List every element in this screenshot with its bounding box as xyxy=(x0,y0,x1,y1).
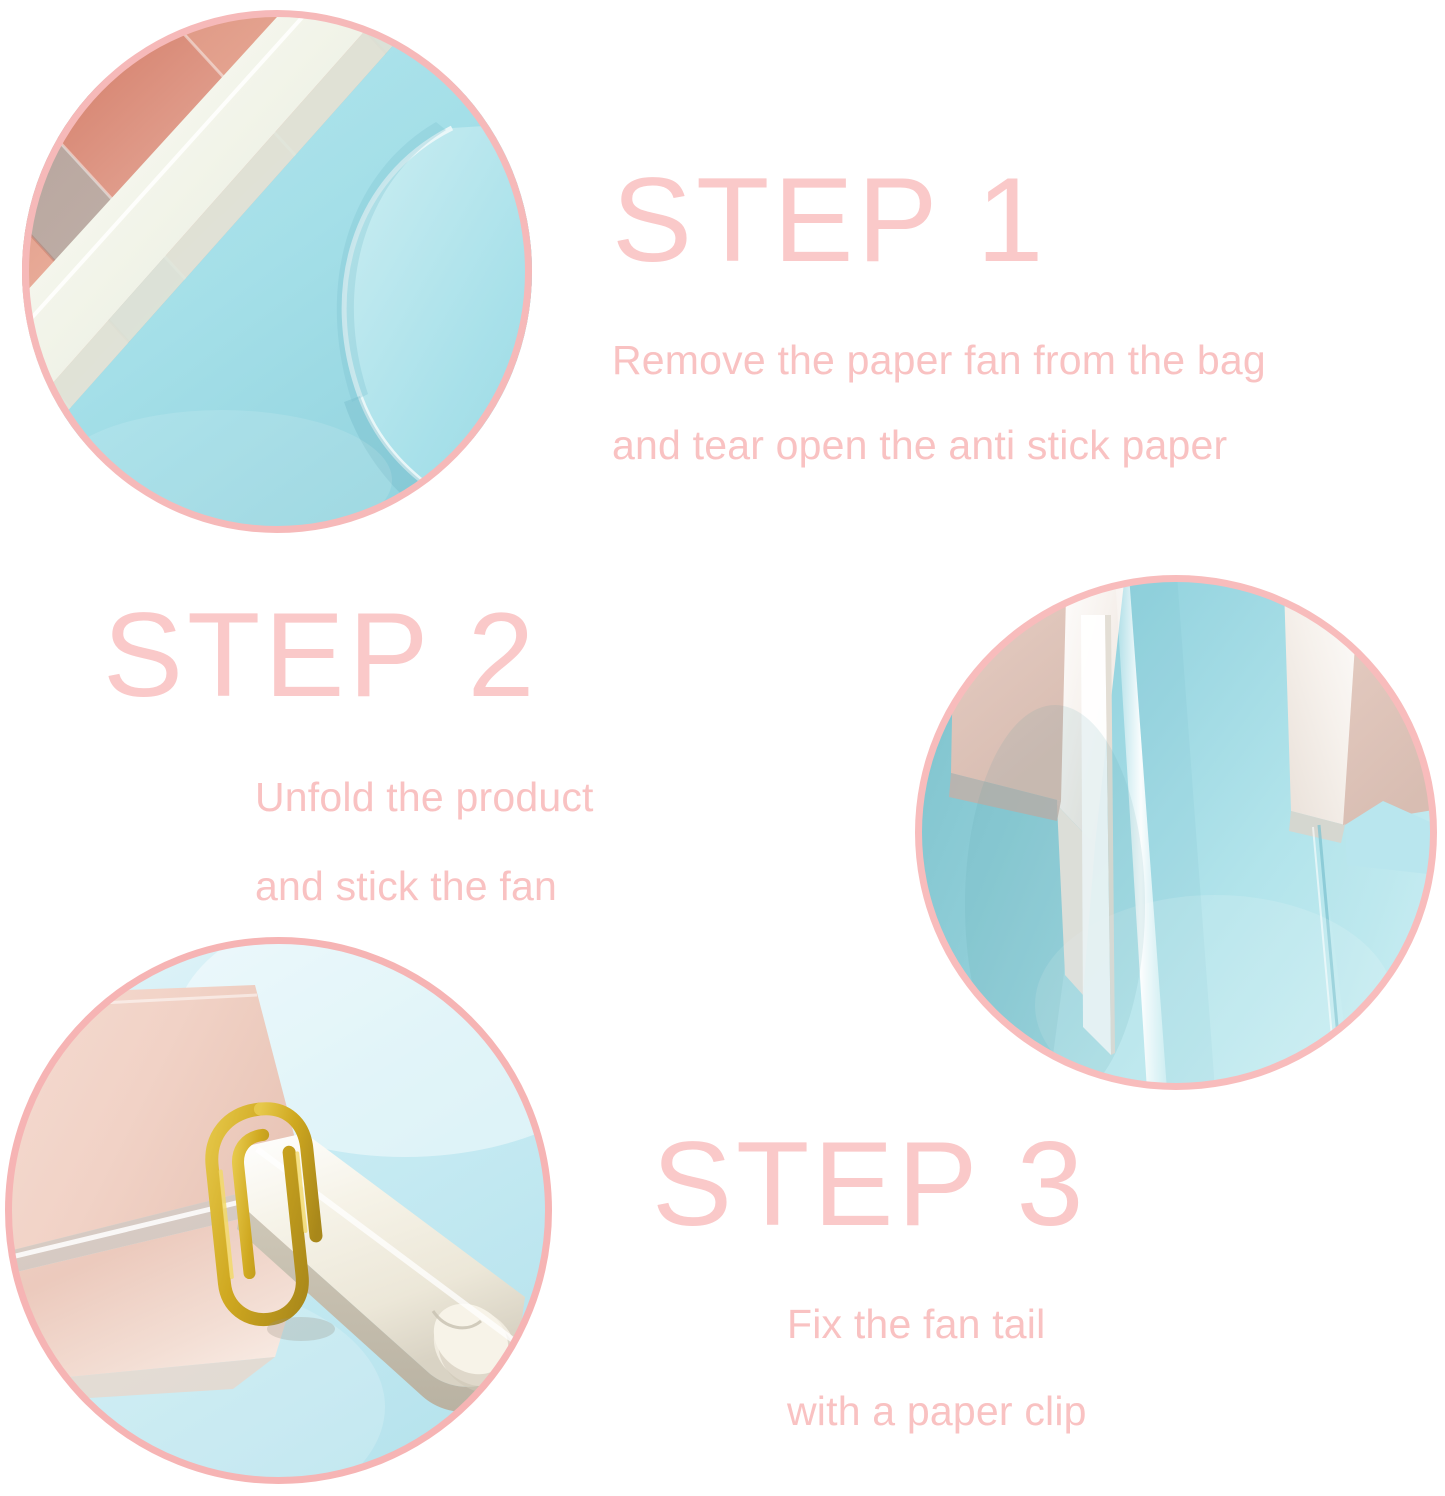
step-2-line-2: and stick the fan xyxy=(255,866,594,907)
instruction-poster: STEP 1 Remove the paper fan from the bag… xyxy=(0,0,1445,1496)
photo-unfolded-blue-fan xyxy=(915,575,1437,1090)
step-2-text-block: STEP 2 Unfold the product and stick the … xyxy=(103,595,594,907)
step-1-text-block: STEP 1 Remove the paper fan from the bag… xyxy=(612,160,1266,510)
photo-fan-tail-with-paperclip xyxy=(5,937,552,1484)
step-3-heading: STEP 3 xyxy=(652,1124,1087,1244)
step-3-text-block: STEP 3 Fix the fan tail with a paper cli… xyxy=(652,1124,1087,1432)
photo-pleated-pink-fan-in-bag xyxy=(22,10,532,533)
paperclip-illustration xyxy=(5,937,552,1484)
step-1-heading: STEP 1 xyxy=(612,160,1266,280)
step-2-heading: STEP 2 xyxy=(103,595,594,715)
unfolded-fan-illustration xyxy=(915,575,1437,1090)
pleated-fan-illustration xyxy=(22,10,532,533)
step-1-line-1: Remove the paper fan from the bag xyxy=(612,340,1266,381)
step-2-line-1: Unfold the product xyxy=(255,777,594,818)
step-1-line-2: and tear open the anti stick paper xyxy=(612,425,1266,466)
step-3-line-2: with a paper clip xyxy=(787,1391,1087,1432)
step-3-line-1: Fix the fan tail xyxy=(787,1304,1087,1345)
